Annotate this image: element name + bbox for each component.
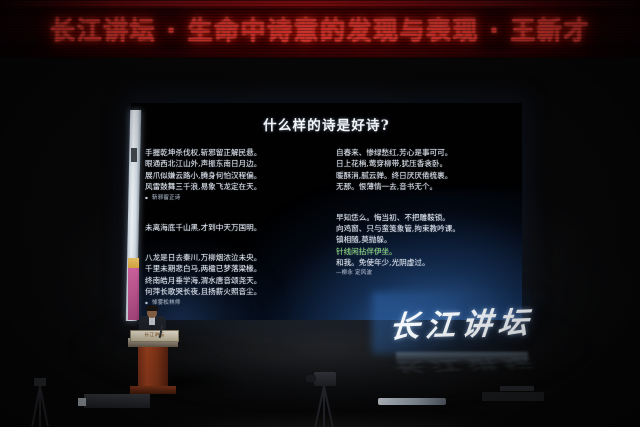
speaker-shirt: [149, 317, 155, 325]
podium-plaque-text: 长江讲坛: [131, 331, 178, 340]
poem-attribution-left-3: 悼雾松林师: [145, 298, 325, 308]
spacer: [145, 242, 325, 252]
tripod-left: [26, 378, 54, 427]
poem-stanza-left-3: 八龙是日去秦川,万柳烟浓泣未央。 千里未期悲白马,两楹已梦落梁椽。 终南皓月垂学…: [145, 252, 325, 308]
poem-line: 暖酥消,腻云亸。终日厌厌倦梳裹。: [336, 170, 516, 181]
projection-screen: 什么样的诗是好诗? 手握乾坤杀伐权,斩邪留正解民悬。 眼通西北江山外,声振东南日…: [131, 103, 522, 320]
poem-line: 何萍长歌哭长夜,且扬薪火照音尘。: [145, 286, 325, 297]
poem-line: 无那。恨薄情一去,音书无个。: [336, 181, 516, 192]
poem-line: 自春来、惨绿愁红,芳心是事可可。: [336, 147, 516, 158]
poem-stanza-right-2: 早知恁么。悔当初、不把雕鞍锁。 向鸡窗、只与蛮笺象管,拘束教吟课。 镇相随,莫抛…: [336, 212, 516, 278]
camera-tripod-center: [306, 372, 340, 427]
slide-title: 什么样的诗是好诗?: [131, 114, 522, 134]
poem-line: 手握乾坤杀伐权,斩邪留正解民悬。: [145, 147, 325, 158]
led-banner: 长江讲坛 · 生命中诗意的发现与表现 · 王新才: [0, 0, 640, 58]
podium-plaque: 长江讲坛: [130, 330, 179, 342]
poem-stanza-right-1: 自春来、惨绿愁红,芳心是事可可。 日上花梢,莺穿柳带,犹压香衾卧。 暖酥消,腻云…: [336, 147, 516, 193]
poem-stanza-left-1: 手握乾坤杀伐权,斩邪留正解民悬。 眼通西北江山外,声振东南日月边。 展爪似嫌云路…: [145, 147, 325, 203]
poem-line: 八龙是日去秦川,万柳烟浓泣未央。: [145, 252, 325, 263]
stage-floor-light: [378, 398, 446, 405]
poem-line: 千里未期悲白马,两楹已梦落梁椽。: [145, 263, 325, 274]
poem-line: 未离海底千山黑,才到中天万国明。: [145, 222, 325, 233]
podium-base: [130, 386, 176, 394]
poem-line: 眼通西北江山外,声振东南日月边。: [145, 158, 325, 169]
slide-right-column: 自春来、惨绿愁红,芳心是事可可。 日上花梢,莺穿柳带,犹压香衾卧。 暖酥消,腻云…: [336, 147, 516, 287]
stage-rail: [396, 352, 528, 364]
stage-equipment-crate: [84, 394, 150, 408]
poem-attribution-right: —柳永 定风波: [336, 269, 516, 278]
poem-line: 风雷鼓舞三千浪,易象飞龙定在天。: [145, 181, 325, 192]
poem-line: 展爪似嫌云路小,腾身何怕汉程偏。: [145, 170, 325, 181]
stage-calligraphy-logo: 长江讲坛: [388, 298, 536, 347]
speaker-hair: [146, 305, 158, 311]
auditorium-scene: 长江讲坛 · 生命中诗意的发现与表现 · 王新才 什么样的诗是好诗? 手握乾坤杀…: [0, 0, 640, 427]
poem-line: 向鸡窗、只与蛮笺象管,拘束教吟课。: [336, 223, 516, 234]
tripod-leg: [323, 386, 325, 427]
poem-line: 日上花梢,莺穿柳带,犹压香衾卧。: [336, 158, 516, 169]
poem-line: 早知恁么。悔当初、不把雕鞍锁。: [336, 212, 516, 223]
banner-title: 长江讲坛 · 生命中诗意的发现与表现 · 王新才: [0, 11, 640, 47]
poem-attribution-left-1: 斩邪留正诗: [145, 193, 325, 203]
poem-line-highlighted: 针线闲拈伴伊坐。: [336, 246, 516, 257]
light-strip-tint-gold: [128, 258, 139, 268]
video-camera-body: [314, 372, 336, 386]
tripod-leg: [39, 386, 41, 427]
poem-line: 镇相随,莫抛躲。: [336, 234, 516, 245]
slide-left-column: 手握乾坤杀伐权,斩邪留正解民悬。 眼通西北江山外,声振东南日月边。 展爪似嫌云路…: [145, 147, 325, 317]
wall-panel: [500, 386, 534, 391]
poem-stanza-left-2: 未离海底千山黑,才到中天万国明。: [145, 222, 325, 233]
stage-monitor-light: [78, 398, 86, 406]
poem-line: 终南皓月垂学海,渭水唐音颂尧天。: [145, 275, 325, 286]
wall-panel: [482, 392, 544, 401]
light-strip-knob: [131, 148, 137, 162]
camera-lens: [306, 375, 316, 382]
spacer: [336, 202, 516, 212]
podium-shadow: [168, 368, 238, 394]
spacer: [145, 212, 325, 222]
light-strip-tint-magenta: [128, 268, 139, 320]
poem-line: 和我。免使年少,光阴虚过。: [336, 257, 516, 268]
